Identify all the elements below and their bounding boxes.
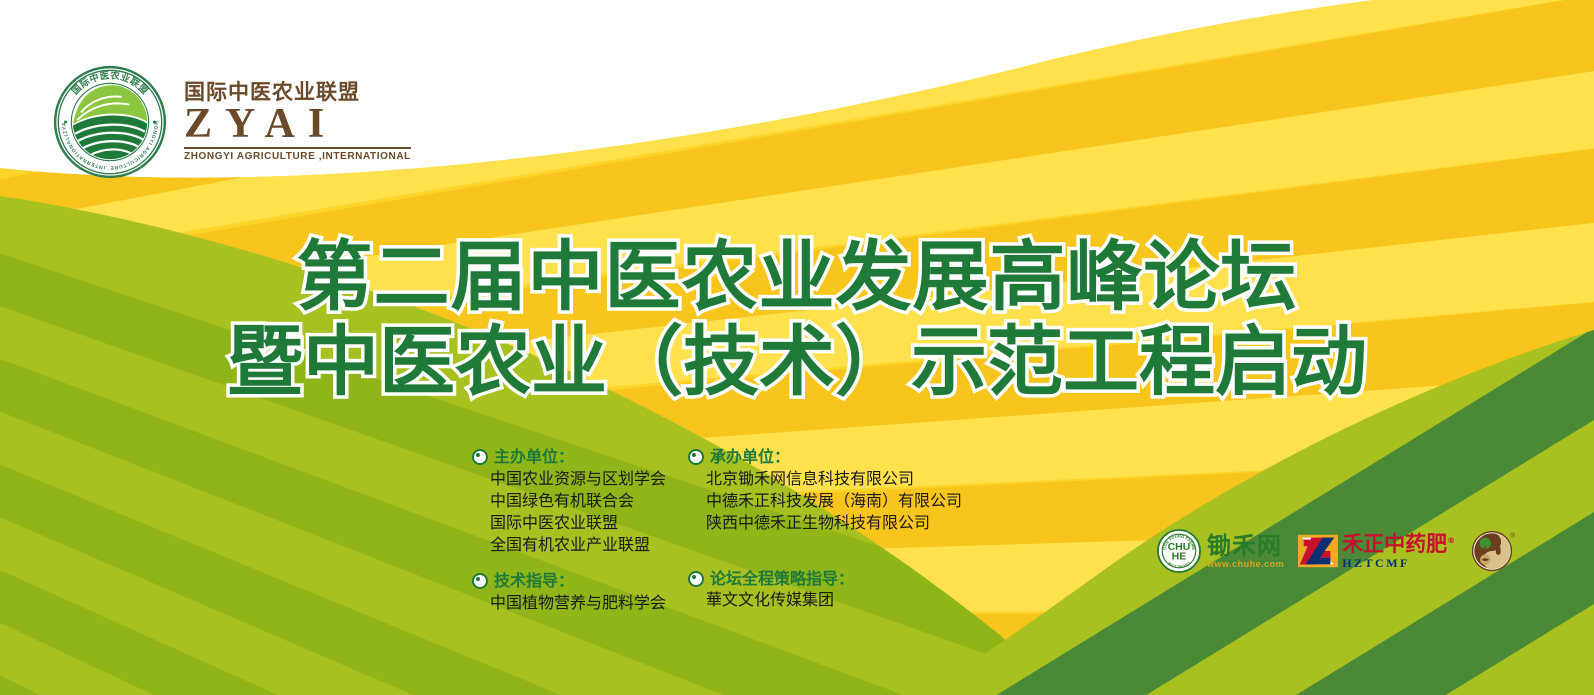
info-group: 技术指导： 中国植物营养与肥料学会 xyxy=(472,570,666,614)
registered-mark: ® xyxy=(1510,532,1515,540)
organizer-info: 主办单位： 中国农业资源与区划学会 中国绿色有机联合会 国际中医农业联盟 全国有… xyxy=(472,446,962,614)
title-line-2: 暨中医农业（技术）示范工程启动 xyxy=(0,319,1594,404)
svg-text:HE: HE xyxy=(1172,551,1187,563)
hz-name-en: HZTCMF xyxy=(1342,557,1455,569)
chuhe-url: www.chuhe.com xyxy=(1207,560,1284,569)
chuhe-circle-icon: GOOD YOUNG FARMER CHUHE.COM CHU HE xyxy=(1156,528,1202,574)
info-item: 中国农业资源与区划学会 xyxy=(490,468,666,490)
hz-name-cn-text: 禾正中药肥 xyxy=(1342,532,1447,556)
zyai-acronym: ZYAI xyxy=(184,105,337,145)
zyai-seal-icon: 国际中医农业联盟 ZHONGYI AGRICULTURE .INTERNATIO… xyxy=(52,64,168,180)
zyai-wordmark: 国际中医农业联盟 ZYAI ZHONGYI AGRICULTURE ,INTER… xyxy=(184,82,411,163)
bullet-icon xyxy=(688,449,704,465)
info-heading-text: 论坛全程策略指导： xyxy=(710,568,854,590)
info-group-heading: 技术指导： xyxy=(472,570,666,592)
info-group: 论坛全程策略指导： 華文文化传媒集团 xyxy=(688,568,962,612)
zyai-name-cn: 国际中医农业联盟 xyxy=(184,82,360,103)
info-heading-text: 技术指导： xyxy=(494,570,574,592)
chuhe-wordmark: 锄禾网 www.chuhe.com xyxy=(1207,534,1284,569)
hz-name-cn: 禾正中药肥® xyxy=(1342,534,1455,555)
bullet-icon xyxy=(472,573,488,589)
poster-canvas: 国际中医农业联盟 ZHONGYI AGRICULTURE .INTERNATIO… xyxy=(0,0,1594,695)
registered-mark: ® xyxy=(1447,536,1455,545)
organizer-column-right: 承办单位： 北京锄禾网信息科技有限公司 中德禾正科技发展（海南）有限公司 陕西中… xyxy=(688,446,962,614)
info-group-heading: 承办单位： xyxy=(688,446,962,468)
info-item: 華文文化传媒集团 xyxy=(706,589,962,611)
poster-title: 第二届中医农业发展高峰论坛 暨中医农业（技术）示范工程启动 xyxy=(0,234,1594,404)
info-item: 中国绿色有机联合会 xyxy=(490,490,666,512)
organizer-column-left: 主办单位： 中国农业资源与区划学会 中国绿色有机联合会 国际中医农业联盟 全国有… xyxy=(472,446,666,614)
sponsor-logo-row: GOOD YOUNG FARMER CHUHE.COM CHU HE 锄禾网 w… xyxy=(1156,528,1515,574)
sponsor-hztcmf: 禾正中药肥® HZTCMF xyxy=(1298,534,1455,569)
info-item: 国际中医农业联盟 xyxy=(490,512,666,534)
zyai-underline xyxy=(184,147,411,149)
zyai-name-en: ZHONGYI AGRICULTURE ,INTERNATIONAL xyxy=(184,152,411,162)
hz-wordmark: 禾正中药肥® HZTCMF xyxy=(1342,534,1455,569)
info-group: 承办单位： 北京锄禾网信息科技有限公司 中德禾正科技发展（海南）有限公司 陕西中… xyxy=(688,446,962,534)
info-group-heading: 主办单位： xyxy=(472,446,666,468)
bullet-icon xyxy=(472,449,488,465)
chuhe-name: 锄禾网 xyxy=(1207,534,1284,558)
info-heading-text: 承办单位： xyxy=(710,446,790,468)
info-heading-text: 主办单位： xyxy=(494,446,574,468)
sponsor-tree-seal: ® xyxy=(1469,528,1515,574)
info-item: 北京锄禾网信息科技有限公司 xyxy=(706,468,962,490)
zyai-logo-block: 国际中医农业联盟 ZHONGYI AGRICULTURE .INTERNATIO… xyxy=(52,64,411,180)
title-line-1: 第二届中医农业发展高峰论坛 xyxy=(0,234,1594,319)
info-item: 全国有机农业产业联盟 xyxy=(490,534,666,556)
hz-z-mark-icon xyxy=(1298,534,1338,568)
info-group: 主办单位： 中国农业资源与区划学会 中国绿色有机联合会 国际中医农业联盟 全国有… xyxy=(472,446,666,556)
sponsor-chuhe: GOOD YOUNG FARMER CHUHE.COM CHU HE 锄禾网 w… xyxy=(1156,528,1284,574)
info-item: 中国植物营养与肥料学会 xyxy=(490,592,666,614)
bullet-icon xyxy=(688,571,704,587)
info-item: 陕西中德禾正生物科技有限公司 xyxy=(706,512,962,534)
tree-soil-circular-icon: ® xyxy=(1469,528,1515,574)
info-group-heading: 论坛全程策略指导： xyxy=(688,568,962,590)
info-item: 中德禾正科技发展（海南）有限公司 xyxy=(706,490,962,512)
